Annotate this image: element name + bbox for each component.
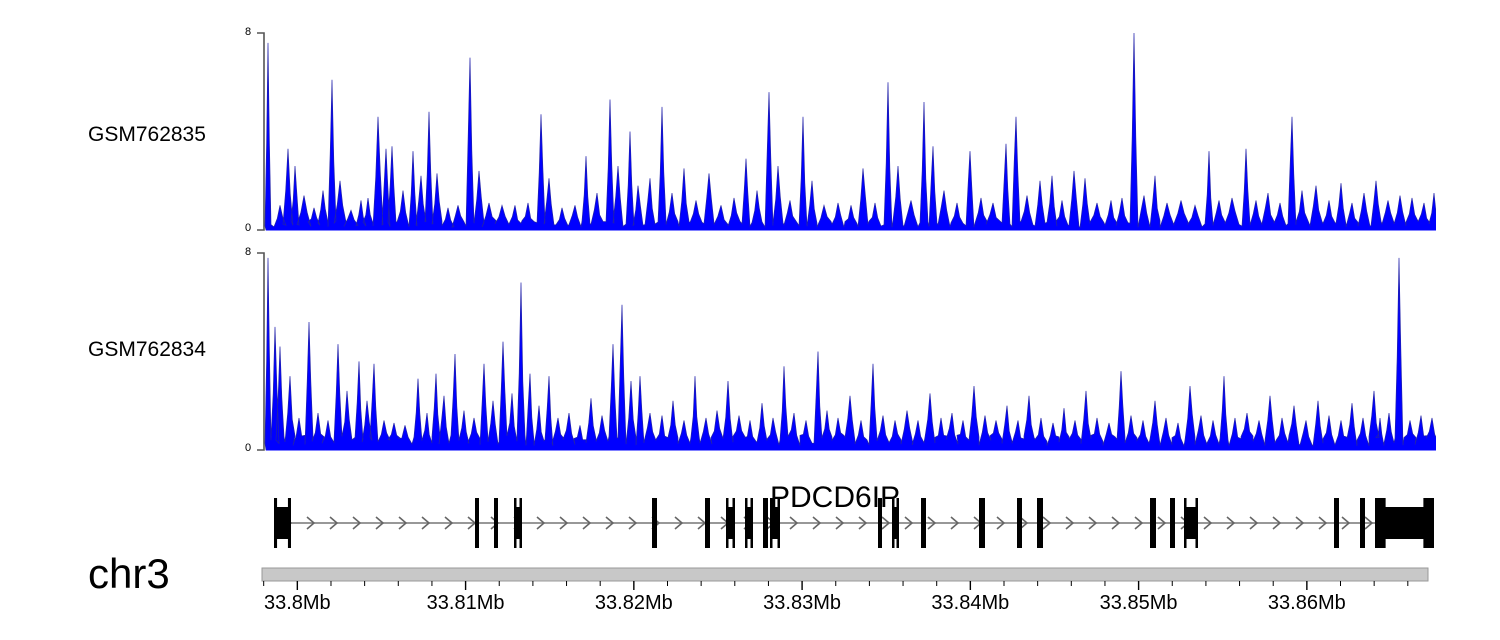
ruler-tick-label: 33.85Mb — [1100, 592, 1178, 615]
ruler-tick-label: 33.82Mb — [595, 592, 673, 615]
ruler-tick-label: 33.8Mb — [264, 592, 331, 615]
signal-track-gsm762834 — [256, 245, 1436, 460]
ruler-tick-label: 33.81Mb — [427, 592, 505, 615]
track-label-gsm762835: GSM762835 — [88, 123, 206, 147]
chromosome-label: chr3 — [88, 550, 170, 598]
ruler-tick-label: 33.86Mb — [1268, 592, 1346, 615]
axis-min-label-track2: 0 — [245, 442, 251, 454]
coordinate-ruler[interactable]: 33.8Mb33.81Mb33.82Mb33.83Mb33.84Mb33.85M… — [256, 560, 1446, 630]
axis-min-label-track1: 0 — [245, 222, 251, 234]
axis-max-label-track1: 8 — [245, 26, 251, 38]
signal-plot-gsm762834 — [256, 245, 1436, 460]
genome-browser-screenshot: GSM762835 GSM762834 8 0 8 0 PDCD6IP chr3… — [0, 0, 1500, 640]
ruler-ticks — [256, 560, 1446, 590]
axis-max-label-track2: 8 — [245, 246, 251, 258]
signal-track-gsm762835 — [256, 25, 1436, 240]
ruler-tick-label: 33.84Mb — [931, 592, 1009, 615]
track-label-gsm762834: GSM762834 — [88, 338, 206, 362]
ruler-tick-label: 33.83Mb — [763, 592, 841, 615]
signal-plot-gsm762835 — [256, 25, 1436, 240]
